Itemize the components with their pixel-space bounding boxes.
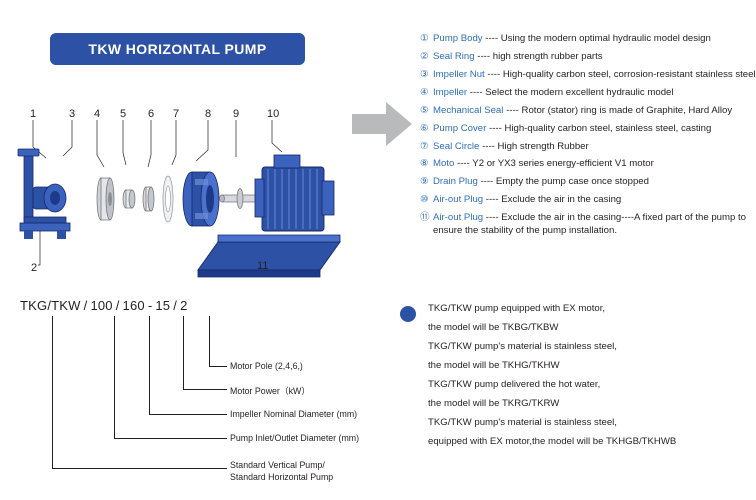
feature-text: Impeller Nut ---- High-quality carbon st… xyxy=(433,69,756,80)
note-line: TKG/TKW pump equipped with EX motor, xyxy=(400,303,750,315)
leader-line-standard-v xyxy=(52,316,53,468)
feature-desc: High strength Rubber xyxy=(498,141,589,152)
feature-text: Pump Body ---- Using the modern optimal … xyxy=(433,33,711,44)
leader-line-pole-v xyxy=(209,316,210,366)
model-sep-3: - xyxy=(145,298,156,313)
note-line: the model will be TKRG/TKRW xyxy=(400,398,750,410)
feature-text: Mechanical Seal ---- Rotor (stator) ring… xyxy=(433,105,732,116)
feature-text: Pump Cover ---- High-quality carbon stee… xyxy=(433,123,711,134)
feature-dash: ---- xyxy=(486,212,499,223)
feature-dash: ---- xyxy=(486,194,499,205)
feature-item: ④ Impeller ---- Select the modern excell… xyxy=(420,87,756,99)
feature-desc: high strength rubber parts xyxy=(493,51,603,62)
callout-9: 9 xyxy=(233,108,239,120)
feature-number: ⑪ xyxy=(420,212,433,224)
model-label-impeller: Impeller Nominal Diameter (mm) xyxy=(230,409,357,419)
feature-number: ③ xyxy=(420,69,433,81)
feature-number: ④ xyxy=(420,87,433,99)
arrow-icon xyxy=(352,100,412,148)
pump-exploded-diagram xyxy=(0,95,355,290)
feature-item: ③ Impeller Nut ---- High-quality carbon … xyxy=(420,69,756,81)
feature-number: ⑨ xyxy=(420,176,433,188)
model-sep-4: / xyxy=(170,298,180,313)
feature-number: ② xyxy=(420,51,433,63)
feature-text: Moto ---- Y2 or YX3 series energy-effici… xyxy=(433,158,654,169)
feature-text: Air-out Plug ---- Exclude the air in the… xyxy=(433,194,621,205)
feature-text: Drain Plug ---- Empty the pump case once… xyxy=(433,176,649,187)
model-prefix: TKG/TKW xyxy=(20,298,81,313)
note-line: TKG/TKW pump delivered the hot water, xyxy=(400,379,750,391)
feature-name: Impeller Nut xyxy=(433,69,485,80)
feature-name: Mechanical Seal xyxy=(433,105,503,116)
feature-item: ⑧ Moto ---- Y2 or YX3 series energy-effi… xyxy=(420,158,756,170)
feature-text: Impeller ---- Select the modern excellen… xyxy=(433,87,674,98)
note-line: the model will be TKHG/TKHW xyxy=(400,360,750,372)
callout-8: 8 xyxy=(205,108,211,120)
note-line-bold: equipped with EX motor,the model will be… xyxy=(400,436,750,448)
callout-5: 5 xyxy=(120,108,126,120)
feature-dash: ---- xyxy=(482,141,495,152)
feature-dash: ---- xyxy=(506,105,519,116)
feature-name: Pump Body xyxy=(433,33,483,44)
model-label-inlet: Pump Inlet/Outlet Diameter (mm) xyxy=(230,433,359,443)
callout-6: 6 xyxy=(148,108,154,120)
model-sep-2: / xyxy=(113,298,123,313)
feature-list: ① Pump Body ---- Using the modern optima… xyxy=(420,33,756,243)
feature-text: Air-out Plug ---- Exclude the air in the… xyxy=(433,212,756,237)
feature-dash: ---- xyxy=(457,158,470,169)
feature-desc: Y2 or YX3 series energy-efficient V1 mot… xyxy=(472,158,654,169)
feature-name: Air-out Plug xyxy=(433,212,483,223)
leader-line-impeller-h xyxy=(149,414,227,415)
model-part-impeller: 160 xyxy=(123,298,145,313)
leader-line-impeller-v xyxy=(149,316,150,414)
note-line: TKG/TKW pump's material is stainless ste… xyxy=(400,341,750,353)
feature-name: Moto xyxy=(433,158,454,169)
leader-line-inlet-h xyxy=(114,438,227,439)
model-part-power: 15 xyxy=(155,298,170,313)
feature-dash: ---- xyxy=(470,87,483,98)
feature-item: ⑪ Air-out Plug ---- Exclude the air in t… xyxy=(420,212,756,237)
feature-name: Seal Circle xyxy=(433,141,479,152)
feature-item: ⑥ Pump Cover ---- High-quality carbon st… xyxy=(420,123,756,135)
note-line: TKG/TKW pump's material is stainless ste… xyxy=(400,417,750,429)
feature-name: Air-out Plug xyxy=(433,194,483,205)
feature-text: Seal Ring ---- high strength rubber part… xyxy=(433,51,603,62)
feature-desc: Exclude the air in the casing xyxy=(501,194,621,205)
callout-10: 10 xyxy=(267,108,279,120)
callout-7: 7 xyxy=(173,108,179,120)
page-root: TKW HORIZONTAL PUMP xyxy=(0,0,756,500)
leader-line-power-v xyxy=(183,316,184,389)
feature-dash: ---- xyxy=(485,33,498,44)
feature-dash: ---- xyxy=(480,176,493,187)
callout-4: 4 xyxy=(94,108,100,120)
feature-number: ⑦ xyxy=(420,141,433,153)
bullet-dot-icon xyxy=(400,306,416,322)
feature-dash: ---- xyxy=(489,123,502,134)
feature-desc: Select the modern excellent hydraulic mo… xyxy=(485,87,673,98)
feature-dash: ---- xyxy=(477,51,490,62)
feature-number: ⑤ xyxy=(420,105,433,117)
model-code-block: TKG/TKW/100/160-15/2 Motor Pole (2,4,6,)… xyxy=(18,298,368,493)
feature-desc: Using the modern optimal hydraulic model… xyxy=(501,33,711,44)
feature-number: ⑩ xyxy=(420,194,433,206)
feature-item: ⑦ Seal Circle ---- High strength Rubber xyxy=(420,141,756,153)
feature-item: ⑤ Mechanical Seal ---- Rotor (stator) ri… xyxy=(420,105,756,117)
model-label-standard-2: Standard Horizontal Pump xyxy=(230,472,333,482)
feature-item: ⑩ Air-out Plug ---- Exclude the air in t… xyxy=(420,194,756,206)
model-part-diameter: 100 xyxy=(90,298,112,313)
model-label-pole: Motor Pole (2,4,6,) xyxy=(230,361,303,371)
feature-item: ⑨ Drain Plug ---- Empty the pump case on… xyxy=(420,176,756,188)
model-sep-1: / xyxy=(81,298,91,313)
callout-1: 1 xyxy=(30,108,36,120)
feature-name: Pump Cover xyxy=(433,123,486,134)
feature-number: ⑧ xyxy=(420,158,433,170)
model-notes: TKG/TKW pump equipped with EX motor, the… xyxy=(400,303,750,455)
page-title: TKW HORIZONTAL PUMP xyxy=(88,41,266,57)
page-title-pill: TKW HORIZONTAL PUMP xyxy=(50,33,305,65)
model-label-power: Motor Power（kW） xyxy=(230,384,310,397)
feature-desc: High-quality carbon steel, stainless ste… xyxy=(504,123,711,134)
model-label-standard-1: Standard Vertical Pump/ xyxy=(230,460,325,470)
leader-line-standard-h xyxy=(52,468,227,469)
feature-desc: High-quality carbon steel, corrosion-res… xyxy=(503,69,756,80)
feature-number: ① xyxy=(420,33,433,45)
feature-name: Seal Ring xyxy=(433,51,475,62)
callout-3: 3 xyxy=(69,108,75,120)
feature-desc: Rotor (stator) ring is made of Graphite,… xyxy=(522,105,733,116)
feature-name: Impeller xyxy=(433,87,467,98)
note-line: the model will be TKBG/TKBW xyxy=(400,322,750,334)
leader-line-power-h xyxy=(183,389,227,390)
model-part-pole: 2 xyxy=(180,298,187,313)
feature-desc: Empty the pump case once stopped xyxy=(496,176,649,187)
feature-name: Drain Plug xyxy=(433,176,478,187)
callout-11: 11 xyxy=(257,260,268,272)
feature-text: Seal Circle ---- High strength Rubber xyxy=(433,141,589,152)
leader-line-pole-h xyxy=(209,366,227,367)
model-code-string: TKG/TKW/100/160-15/2 xyxy=(20,298,188,313)
feature-number: ⑥ xyxy=(420,123,433,135)
feature-dash: ---- xyxy=(487,69,500,80)
callout-2: 2 xyxy=(31,262,37,274)
leader-line-inlet-v xyxy=(114,316,115,438)
feature-item: ② Seal Ring ---- high strength rubber pa… xyxy=(420,51,756,63)
feature-item: ① Pump Body ---- Using the modern optima… xyxy=(420,33,756,45)
